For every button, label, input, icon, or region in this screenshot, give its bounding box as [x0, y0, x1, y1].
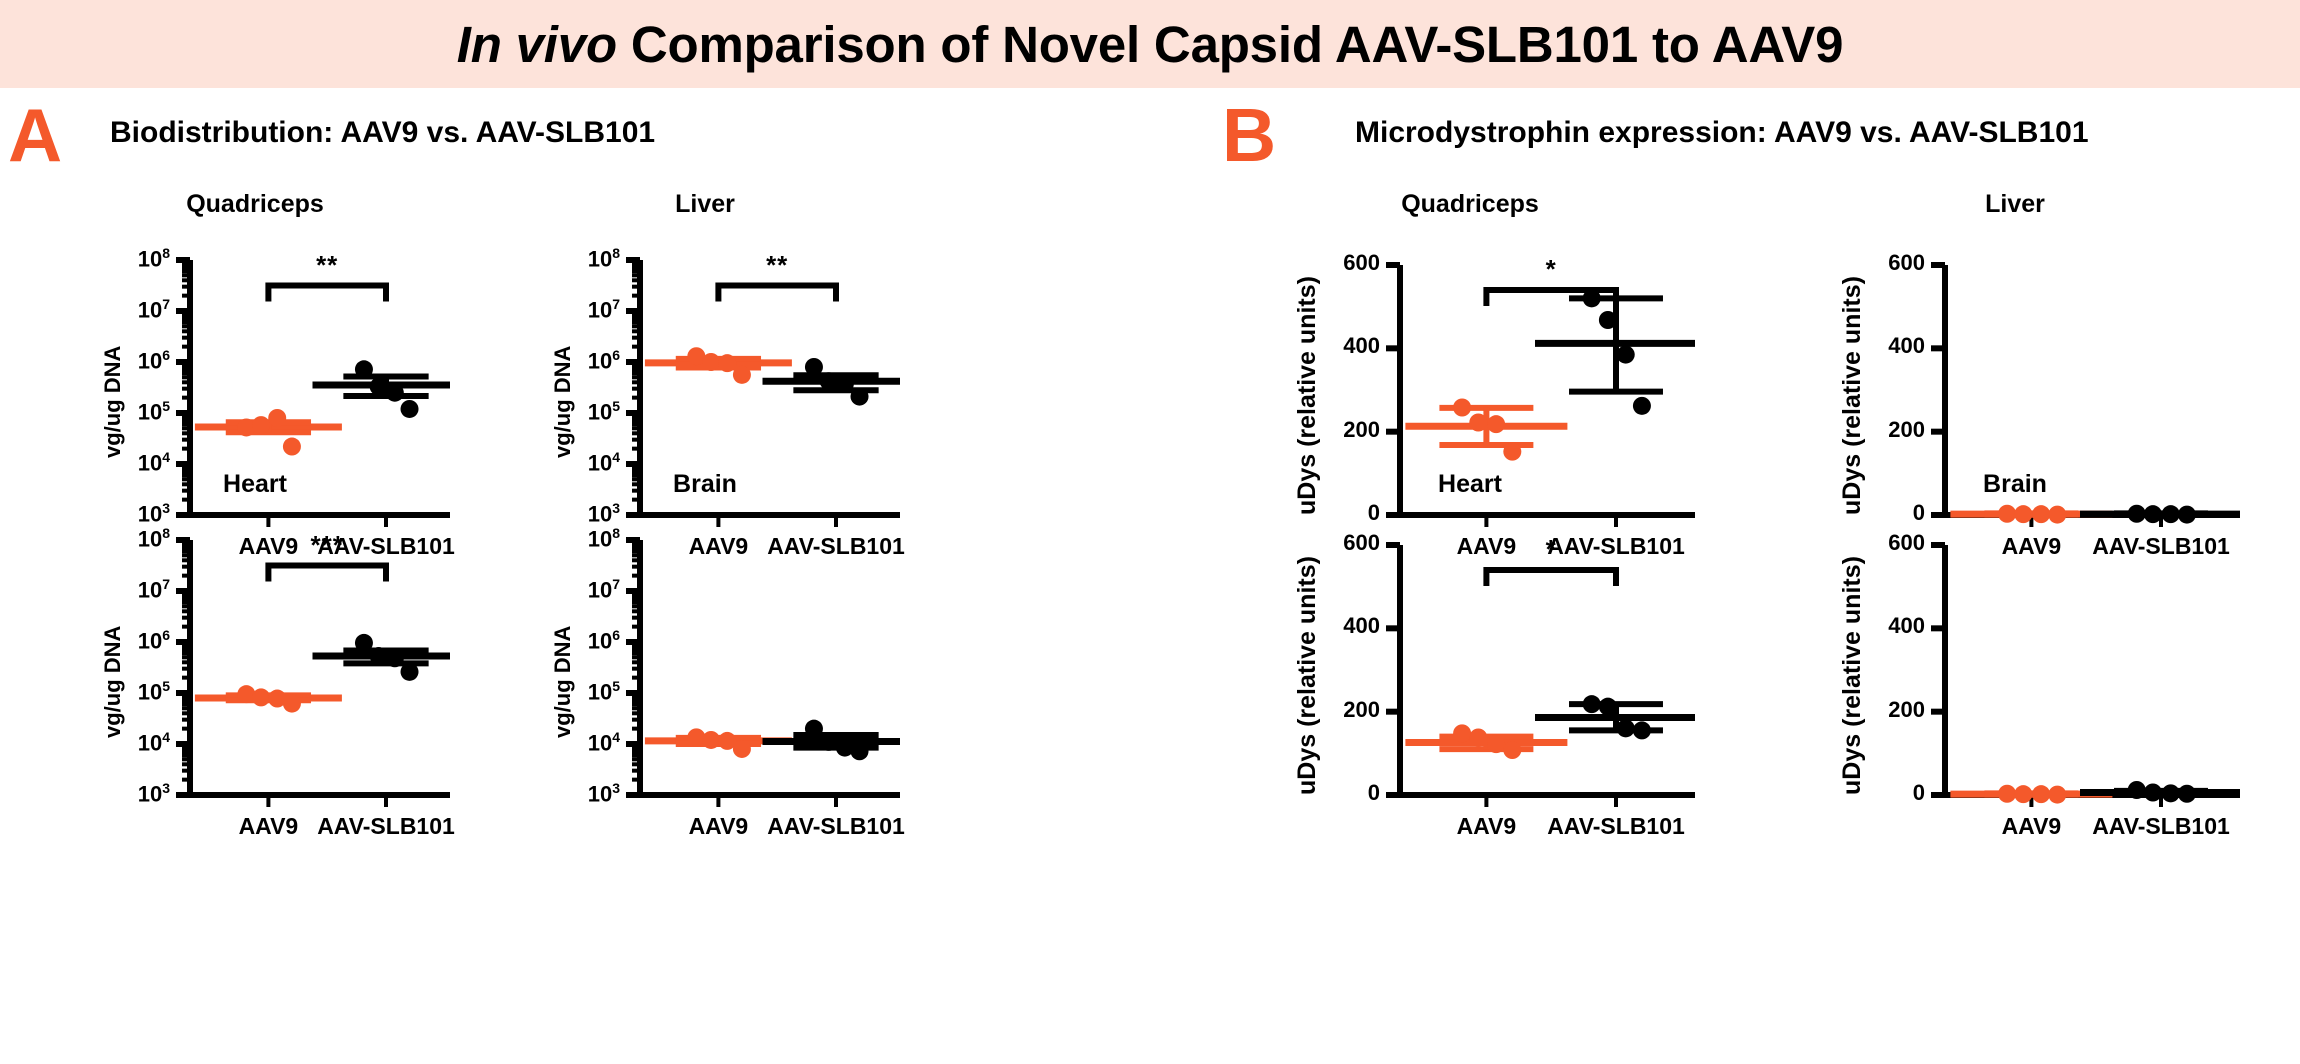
series-a-quadriceps-1 [313, 360, 451, 418]
data-point [805, 358, 823, 376]
y-axis-label: uDys (relative units) [1293, 556, 1322, 795]
figure-title-italic: In vivo [457, 16, 617, 73]
data-point [1617, 719, 1635, 737]
data-point [2178, 785, 2196, 803]
panel-heading-b: Microdystrophin expression: AAV9 vs. AAV… [1355, 116, 2089, 150]
y-tick-label: 107 [60, 296, 170, 323]
data-point [2014, 785, 2032, 803]
y-tick-label: 108 [60, 245, 170, 272]
series-a-brain-1 [763, 720, 901, 761]
data-point [252, 688, 270, 706]
data-point [1469, 414, 1487, 432]
data-point [851, 388, 869, 406]
y-tick-label: 103 [510, 780, 620, 807]
data-point [820, 372, 838, 390]
y-tick-label: 103 [60, 780, 170, 807]
data-point [386, 649, 404, 667]
figure-title-rest: Comparison of Novel Capsid AAV-SLB101 to… [617, 16, 1843, 73]
series-b-quadriceps-1 [1535, 289, 1695, 414]
significance-label: * [1491, 534, 1611, 565]
y-axis-label: vg/ug DNA [100, 625, 126, 737]
y-axis-label: vg/ug DNA [550, 345, 576, 457]
data-point [805, 720, 823, 738]
chart-a-brain: Brain103104105106107108AAV9AAV-SLB101vg/… [510, 470, 900, 850]
data-point [1633, 721, 1651, 739]
significance-bracket [268, 566, 386, 582]
y-tick-label: 600 [1790, 530, 1925, 556]
data-point [355, 634, 373, 652]
y-tick-label: 600 [1245, 530, 1380, 556]
data-point [370, 647, 388, 665]
y-tick-label: 600 [1245, 250, 1380, 276]
data-point [836, 375, 854, 393]
significance-bracket [268, 286, 386, 302]
data-point [2144, 784, 2162, 802]
data-point [1487, 735, 1505, 753]
series-a-quadriceps-0 [195, 409, 342, 456]
data-point [1453, 399, 1471, 417]
data-point [1599, 698, 1617, 716]
data-point [1583, 695, 1601, 713]
series-b-heart-1 [1535, 695, 1695, 739]
data-point [283, 695, 301, 713]
data-point [820, 733, 838, 751]
chart-b-heart: Heart0200400600AAV9AAV-SLB101uDys (relat… [1245, 470, 1695, 850]
data-point [2162, 784, 2180, 802]
data-point [733, 366, 751, 384]
data-point [268, 409, 286, 427]
data-point [283, 438, 301, 456]
data-point [1617, 346, 1635, 364]
data-point [1503, 443, 1521, 461]
figure-title-band: In vivo Comparison of Novel Capsid AAV-S… [0, 0, 2300, 88]
chart-b-brain: Brain0200400600AAV9AAV-SLB101uDys (relat… [1790, 470, 2240, 850]
x-tick-label-1: AAV-SLB101 [726, 813, 946, 840]
series-a-heart-1 [313, 634, 451, 681]
data-point [702, 353, 720, 371]
data-point [401, 663, 419, 681]
data-point [1453, 724, 1471, 742]
data-point [355, 360, 373, 378]
data-point [733, 740, 751, 758]
panel-heading-a: Biodistribution: AAV9 vs. AAV-SLB101 [110, 116, 655, 150]
x-tick-label-1: AAV-SLB101 [276, 813, 496, 840]
y-axis-label: uDys (relative units) [1838, 556, 1867, 795]
y-tick-label: 107 [510, 296, 620, 323]
y-tick-label: 108 [60, 525, 170, 552]
figure-root: In vivo Comparison of Novel Capsid AAV-S… [0, 0, 2300, 1064]
data-point [718, 354, 736, 372]
series-b-quadriceps-0 [1405, 399, 1567, 461]
panel-letter-b: B [1222, 98, 1276, 173]
y-tick-label: 108 [510, 525, 620, 552]
data-point [370, 378, 388, 396]
significance-label: ** [717, 250, 837, 281]
significance-label: *** [267, 530, 387, 561]
y-tick-label: 600 [1790, 250, 1925, 276]
series-b-heart-0 [1405, 724, 1567, 759]
x-tick-label-1: AAV-SLB101 [1506, 813, 1726, 840]
data-point [1487, 415, 1505, 433]
data-point [1633, 397, 1651, 415]
data-point [2128, 781, 2146, 799]
data-point [851, 742, 869, 760]
data-point [401, 400, 419, 418]
data-point [2032, 785, 2050, 803]
significance-label: ** [267, 250, 387, 281]
data-point [1469, 729, 1487, 747]
y-tick-label: 107 [510, 576, 620, 603]
data-point [252, 416, 270, 434]
data-point [2048, 786, 2066, 804]
significance-bracket [1486, 570, 1616, 586]
data-point [1503, 741, 1521, 759]
figure-title: In vivo Comparison of Novel Capsid AAV-S… [457, 15, 1844, 74]
panel-letter-a: A [8, 98, 62, 173]
y-axis-label: vg/ug DNA [550, 625, 576, 737]
x-tick-label-1: AAV-SLB101 [2051, 813, 2271, 840]
significance-bracket [718, 286, 836, 302]
data-point [702, 731, 720, 749]
chart-a-heart: Heart103104105106107108AAV9AAV-SLB101vg/… [60, 470, 450, 850]
y-tick-label: 107 [60, 576, 170, 603]
data-point [1599, 311, 1617, 329]
significance-label: * [1491, 254, 1611, 285]
y-axis-label: vg/ug DNA [100, 345, 126, 457]
y-tick-label: 108 [510, 245, 620, 272]
series-a-heart-0 [195, 685, 342, 712]
data-point [1998, 785, 2016, 803]
data-point [386, 384, 404, 402]
